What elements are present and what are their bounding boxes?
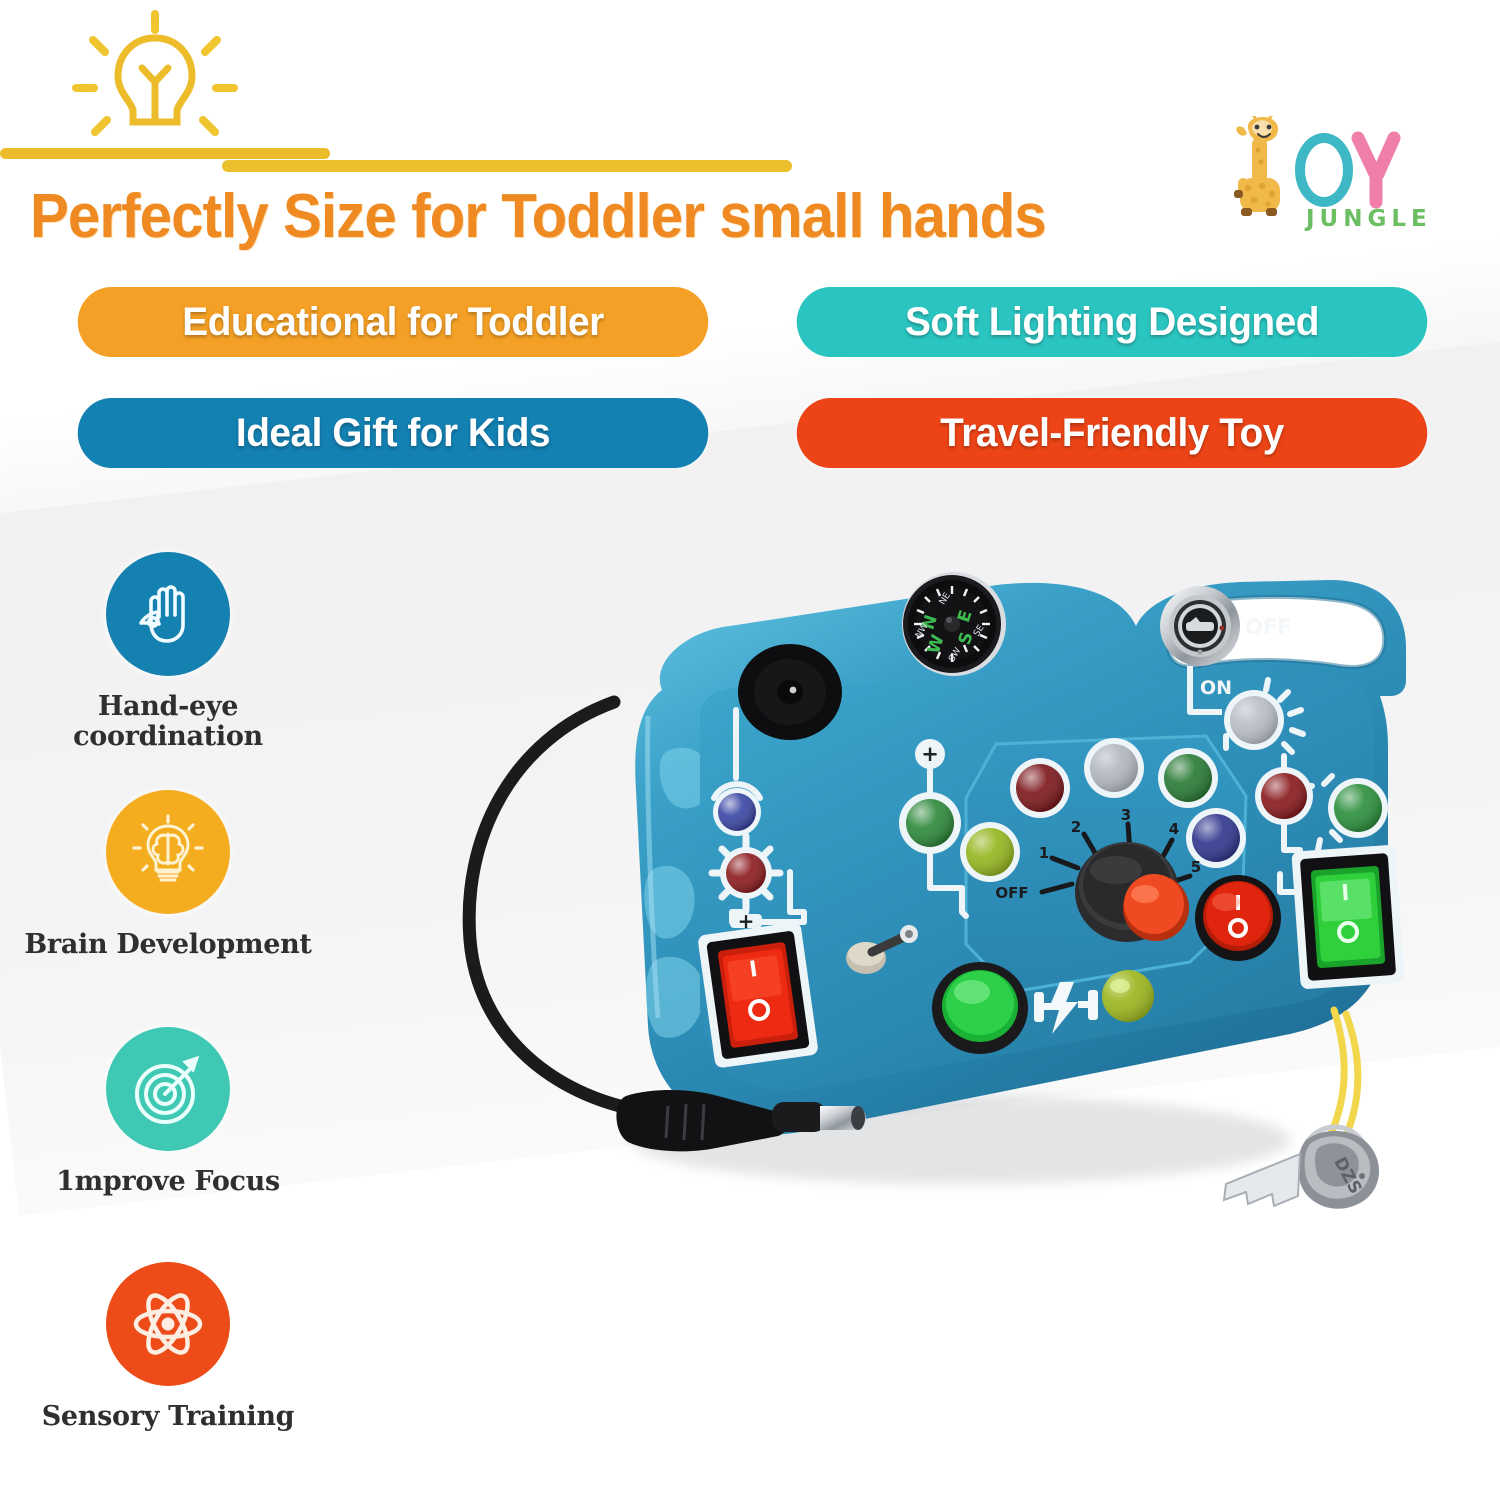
- target-dart-icon: [106, 1027, 230, 1151]
- benefit-label: Sensory Training: [18, 1402, 318, 1432]
- ignition-off-label: OFF: [1245, 615, 1292, 639]
- speaker-grille: [738, 644, 842, 740]
- push-button-green: [932, 962, 1028, 1054]
- feature-pill-ideal-gift: Ideal Gift for Kids: [78, 398, 709, 468]
- svg-text:+: +: [921, 742, 939, 766]
- svg-text:5: 5: [1191, 858, 1201, 876]
- led-yellow-green: [960, 822, 1020, 882]
- feature-pill-label: Ideal Gift for Kids: [236, 411, 550, 456]
- feature-pill-educational: Educational for Toddler: [78, 287, 709, 357]
- led-green: [1158, 748, 1218, 808]
- lightbulb-rays-icon: [60, 10, 250, 160]
- giraffe-icon: [1222, 116, 1302, 236]
- brand-secondary-text: JUNGLE: [1306, 206, 1432, 232]
- svg-text:OFF: OFF: [995, 884, 1028, 902]
- atom-icon: [106, 1262, 230, 1386]
- push-button-red: [1195, 875, 1281, 961]
- led-blue-antenna: [713, 788, 761, 836]
- led-olive-bottom: [1102, 970, 1154, 1022]
- led-white: [1084, 738, 1144, 798]
- feature-pill-label: Soft Lighting Designed: [905, 300, 1319, 345]
- svg-text:3: 3: [1121, 806, 1131, 824]
- product-image-busy-board: N E S W NE SE SW NW: [400, 540, 1490, 1300]
- led-red-lamp: [712, 836, 780, 910]
- benefit-improve-focus: 1mprove Focus: [18, 1027, 318, 1197]
- benefit-hand-eye-coordination: Hand-eyecoordination: [18, 552, 318, 752]
- feature-pill-label: Educational for Toddler: [182, 300, 603, 345]
- brand-logo: JUNGLE: [1222, 112, 1402, 242]
- brain-bulb-icon: [106, 790, 230, 914]
- feature-pill-travel-friendly: Travel-Friendly Toy: [797, 398, 1428, 468]
- benefit-label: Brain Development: [18, 930, 318, 960]
- feature-pill-label: Travel-Friendly Toy: [940, 411, 1284, 456]
- benefit-sensory-training: Sensory Training: [18, 1262, 318, 1432]
- compass-dial: N E S W NE SE SW NW: [902, 572, 1006, 676]
- led-dark-red: [1010, 758, 1070, 818]
- dc-power-cable: [469, 702, 628, 1108]
- header-rule-right: [222, 160, 792, 172]
- feature-pill-soft-lighting: Soft Lighting Designed: [797, 287, 1428, 357]
- header-rule-left: [0, 148, 330, 159]
- key-ignition-switch: [1160, 586, 1240, 666]
- benefit-brain-development: Brain Development: [18, 790, 318, 960]
- rocker-switch-red: [697, 921, 819, 1068]
- hand-eye-icon: [106, 552, 230, 676]
- svg-text:2: 2: [1071, 818, 1081, 836]
- page-title: Perfectly Size for Toddler small hands: [30, 186, 1139, 248]
- rocker-switch-green: [1291, 845, 1404, 990]
- led-red-right: [1255, 767, 1313, 825]
- svg-text:1: 1: [1039, 844, 1049, 862]
- ignition-on-label: ON: [1200, 677, 1232, 699]
- benefit-label: 1mprove Focus: [18, 1167, 318, 1197]
- joy-wordmark: [1294, 130, 1402, 210]
- benefit-label: Hand-eyecoordination: [18, 692, 318, 752]
- svg-text:4: 4: [1169, 820, 1179, 838]
